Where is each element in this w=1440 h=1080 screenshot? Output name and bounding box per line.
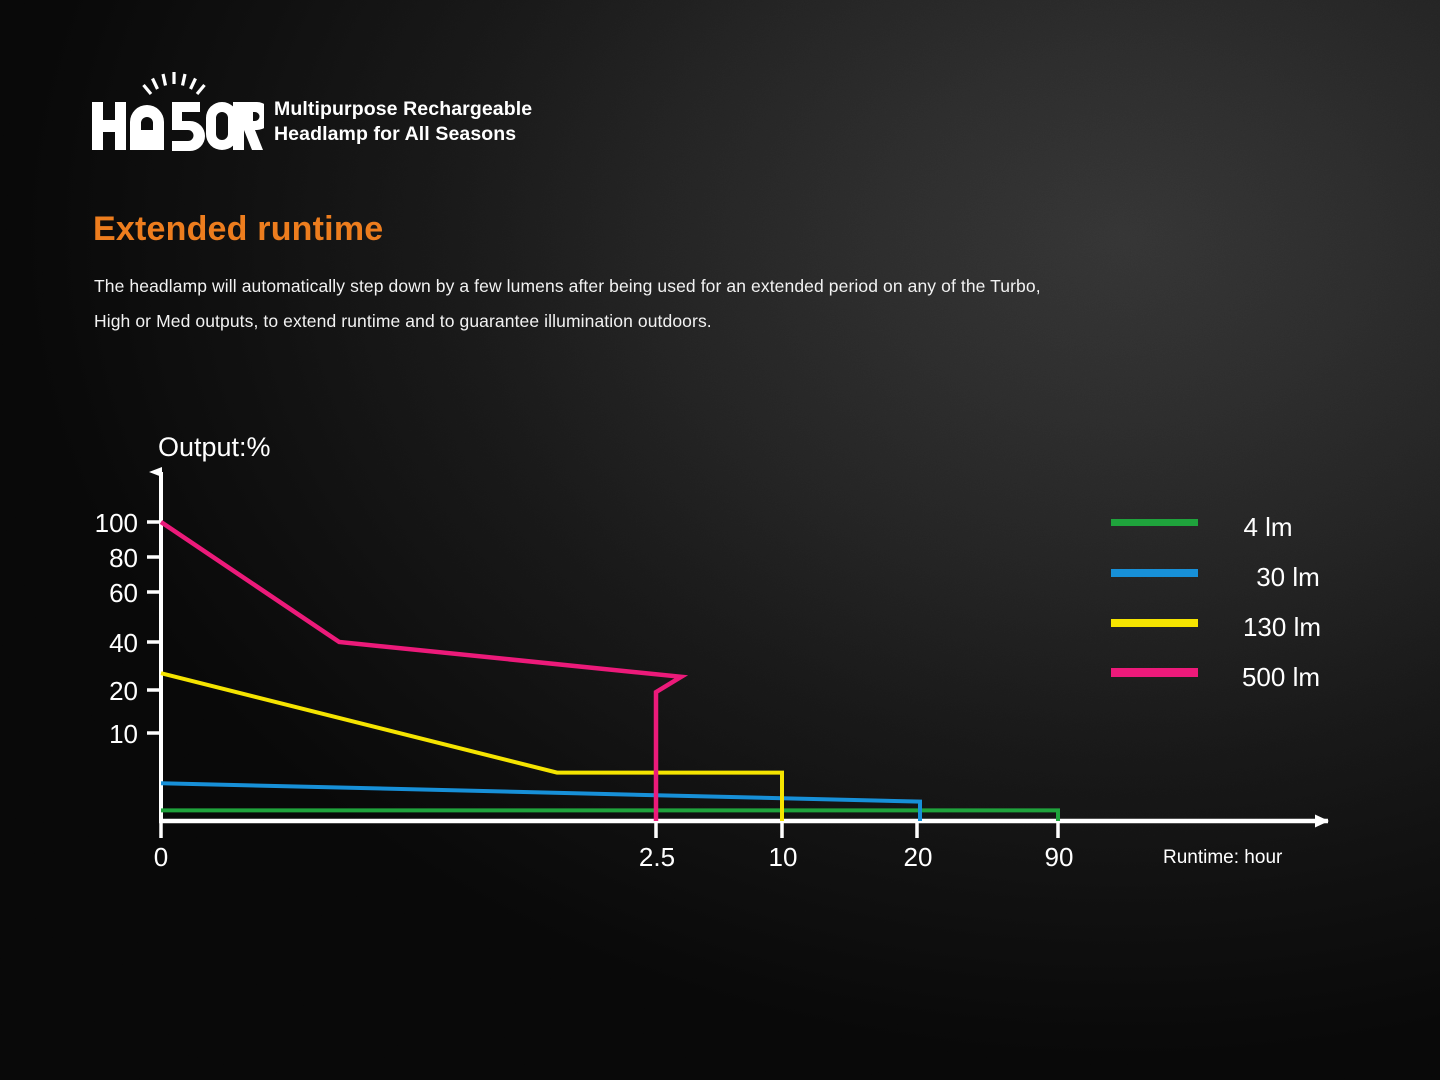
series-line-30lm	[161, 783, 920, 821]
series-line-500lm	[161, 522, 681, 821]
x-axis-tick-labels: 0 2.5 10 20 90	[154, 842, 1074, 872]
slide-root: Multipurpose Rechargeable Headlamp for A…	[0, 0, 1440, 1080]
legend-label: 130 lm	[1243, 612, 1321, 642]
y-tick-label: 60	[109, 578, 138, 608]
y-tick-label: 20	[109, 676, 138, 706]
y-tick-label: 40	[109, 628, 138, 658]
legend-swatch-500lm	[1111, 668, 1198, 677]
x-tick-label: 10	[769, 842, 798, 872]
x-axis-title: Runtime: hour	[1163, 847, 1283, 868]
runtime-chart: Output:% 100 80 60 40 20 10	[0, 0, 1440, 1080]
y-tick-label: 10	[109, 719, 138, 749]
x-axis-ticks	[161, 821, 1058, 838]
legend-item: 4 lm	[1111, 512, 1293, 542]
y-tick-label: 80	[109, 543, 138, 573]
y-axis-tick-labels: 100 80 60 40 20 10	[95, 508, 138, 749]
x-tick-label: 2.5	[639, 842, 675, 872]
legend-label: 30 lm	[1256, 562, 1320, 592]
legend-swatch-30lm	[1111, 569, 1198, 577]
legend-swatch-4lm	[1111, 519, 1198, 526]
chart-legend: 4 lm 30 lm 130 lm 500 lm	[1111, 512, 1321, 692]
x-tick-label: 0	[154, 842, 168, 872]
legend-label: 4 lm	[1243, 512, 1292, 542]
chart-series-group	[161, 522, 1058, 821]
legend-item: 500 lm	[1111, 662, 1320, 692]
legend-label: 500 lm	[1242, 662, 1320, 692]
legend-swatch-130lm	[1111, 619, 1198, 627]
y-tick-label: 100	[95, 508, 138, 538]
y-axis-title: Output:%	[158, 432, 271, 462]
legend-item: 130 lm	[1111, 612, 1321, 642]
x-tick-label: 20	[904, 842, 933, 872]
legend-item: 30 lm	[1111, 562, 1320, 592]
x-tick-label: 90	[1045, 842, 1074, 872]
series-line-130lm	[161, 673, 782, 821]
